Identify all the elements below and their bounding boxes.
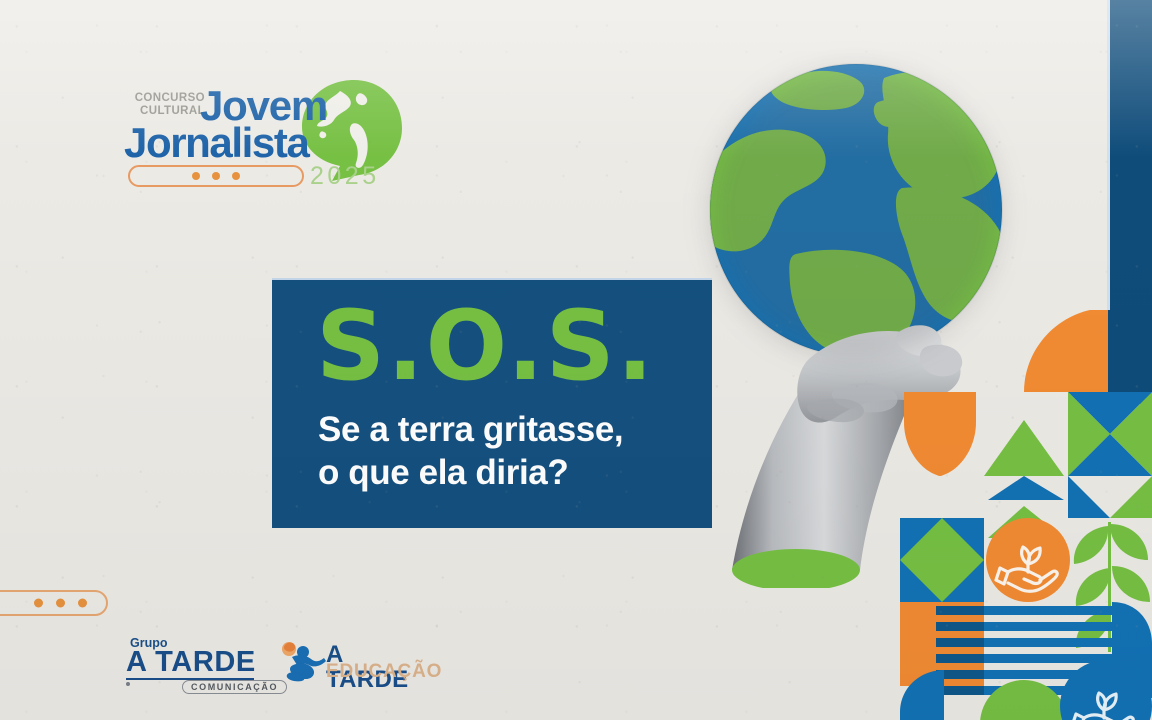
quarter-circle-orange xyxy=(1024,310,1108,392)
torch-bearer-figure-icon xyxy=(276,640,328,682)
side-dot-1 xyxy=(34,599,43,608)
side-dot-2 xyxy=(56,599,65,608)
triangle-green-1 xyxy=(984,420,1064,476)
poster-canvas: CONCURSO CULTURAL Jovem Jornalista 2025 xyxy=(0,0,1152,720)
tulip-orange xyxy=(904,392,976,476)
page-subtitle: Se a terra gritasse, o que ela diria? xyxy=(318,408,698,494)
subtitle-line-2: o que ela diria? xyxy=(318,451,698,494)
logo-kicker: CONCURSO CULTURAL xyxy=(127,92,205,118)
logo-a-tarde-educacao[interactable]: A TARDE EDUCAÇÃO xyxy=(276,640,424,684)
side-decoration-pill xyxy=(0,590,108,616)
title-panel: S.O.S. Se a terra gritasse, o que ela di… xyxy=(272,280,712,528)
footer-logos: Grupo A TARDE COMUNICAÇÃO A TARDE EDUCAÇ… xyxy=(124,636,424,688)
side-dot-3 xyxy=(78,599,87,608)
square-navy-top xyxy=(1108,310,1152,392)
pinwheel-blue-green xyxy=(1068,392,1152,476)
logo-dot-2 xyxy=(212,172,220,180)
logo-pill-dots xyxy=(128,165,304,187)
geometric-pattern xyxy=(896,310,1152,720)
educacao-wordmark: EDUCAÇÃO xyxy=(326,662,442,682)
triangle-blue-2 xyxy=(1068,476,1110,518)
logo-kicker-line1: CONCURSO xyxy=(135,92,205,104)
a-tarde-dot xyxy=(126,682,130,686)
triangle-green-3 xyxy=(1110,476,1152,518)
logo-word-jornalista: Jornalista xyxy=(124,122,308,164)
logo-dot-3 xyxy=(232,172,240,180)
a-tarde-wordmark: A TARDE xyxy=(126,647,256,677)
comunicacao-badge: COMUNICAÇÃO xyxy=(182,680,287,694)
contest-logo[interactable]: CONCURSO CULTURAL Jovem Jornalista 2025 xyxy=(124,82,424,190)
logo-kicker-line2: CULTURAL xyxy=(140,105,205,117)
page-title: S.O.S. xyxy=(316,298,655,394)
logo-year: 2025 xyxy=(310,164,380,189)
subtitle-line-1: Se a terra gritasse, xyxy=(318,408,698,451)
logo-dot-1 xyxy=(192,172,200,180)
